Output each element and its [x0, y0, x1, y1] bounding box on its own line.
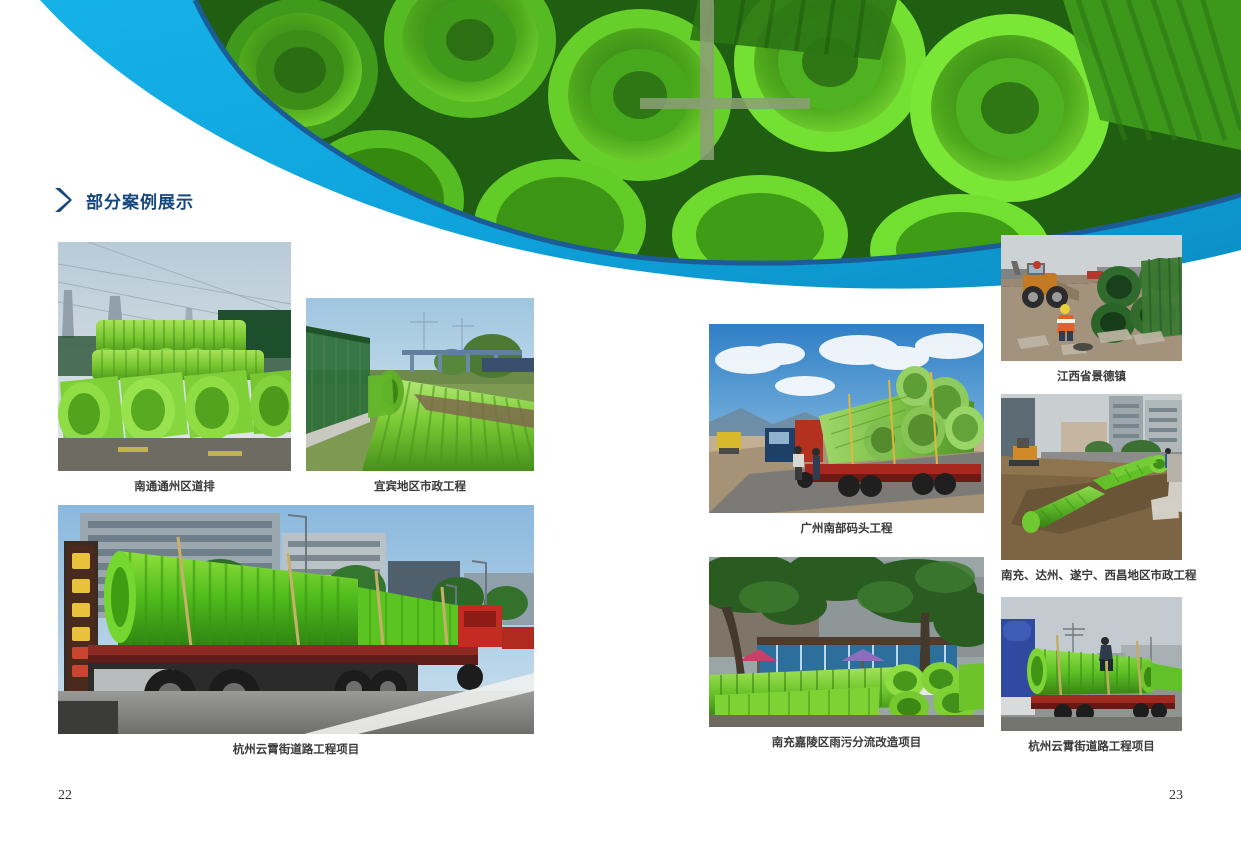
case-photo-jiangxi-jingdezhen[interactable] [1001, 235, 1182, 361]
case-caption-nanchong-jialing: 南充嘉陵区雨污分流改造项目 [709, 734, 984, 750]
case-caption-hangzhou-yunxiao-left: 杭州云霄街道路工程项目 [58, 741, 534, 757]
case-caption-jiangxi-jingdezhen: 江西省景德镇 [1001, 368, 1182, 384]
page-number-left: 22 [58, 788, 72, 804]
case-photo-hangzhou-yunxiao-right[interactable] [1001, 597, 1182, 731]
case-photo-yibin-municipal[interactable] [306, 298, 534, 471]
case-photo-nanchong-dazhou-suining-xichang[interactable] [1001, 394, 1182, 560]
page-number-right: 23 [1169, 788, 1183, 804]
case-caption-guangzhou-south-port: 广州南部码头工程 [709, 520, 984, 536]
case-photo-hangzhou-yunxiao-left[interactable] [58, 505, 534, 734]
chevron-right-icon [52, 186, 74, 214]
section-heading: 部分案例展示 [52, 186, 194, 214]
page-title: 部分案例展示 [86, 188, 194, 213]
case-photo-guangzhou-south-port[interactable] [709, 324, 984, 513]
case-caption-nantong-tongzhou: 南通通州区道排 [58, 478, 291, 494]
case-photo-nanchong-jialing[interactable] [709, 557, 984, 727]
case-caption-hangzhou-yunxiao-right: 杭州云霄街道路工程项目 [1001, 738, 1182, 754]
case-caption-yibin-municipal: 宜宾地区市政工程 [306, 478, 534, 494]
case-photo-nantong-tongzhou[interactable] [58, 242, 291, 471]
case-caption-nanchong-dazhou-suining-xichang: 南充、达州、遂宁、西昌地区市政工程 [1001, 567, 1182, 583]
